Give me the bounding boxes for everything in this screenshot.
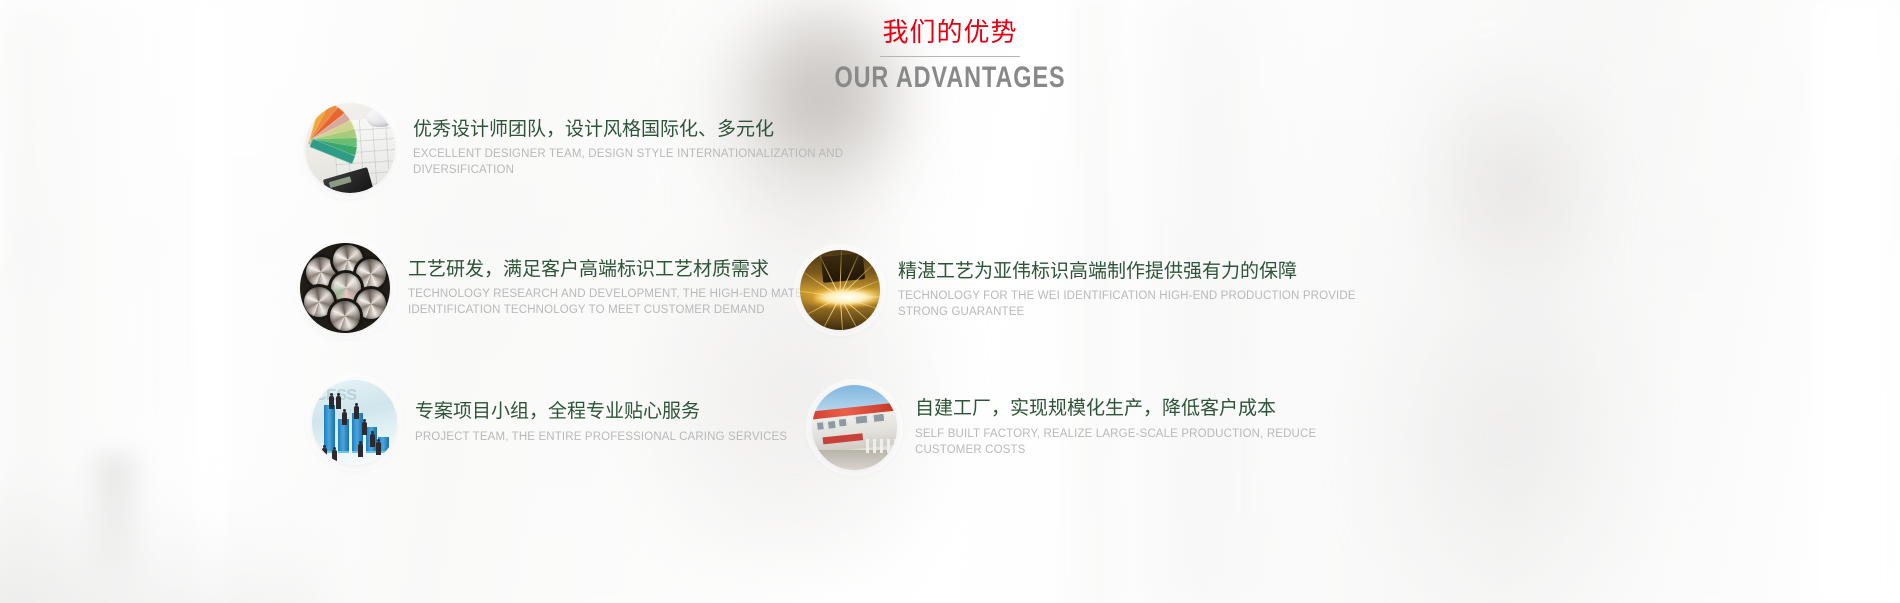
feature-title-cn: 优秀设计师团队，设计风格国际化、多元化 [413, 117, 873, 143]
feature-item-technology-rd[interactable]: 工艺研发，满足客户高端标识工艺材质需求 TECHNOLOGY RESEARCH … [300, 243, 868, 333]
section-title-en: OUR ADVANTAGES [209, 61, 1691, 95]
advantages-section: 我们的优势 OUR ADVANTAGES [0, 0, 1900, 603]
feature-title-cn: 自建工厂，实现规模化生产，降低客户成本 [915, 396, 1375, 422]
feature-subtitle-en: SELF BUILT FACTORY, REALIZE LARGE-SCALE … [915, 427, 1375, 459]
title-divider [880, 56, 1020, 57]
factory-building-icon [812, 385, 897, 470]
feature-item-own-factory[interactable]: 自建工厂，实现规模化生产，降低客户成本 SELF BUILT FACTORY, … [812, 385, 1375, 470]
feature-title-cn: 专案项目小组，全程专业贴心服务 [415, 399, 787, 425]
fence-graphic [866, 439, 895, 453]
feature-subtitle-en: TECHNOLOGY FOR THE WEI IDENTIFICATION HI… [898, 289, 1358, 321]
welding-sparks-icon [800, 250, 880, 330]
weld-flash-graphic [814, 288, 880, 306]
feature-title-cn: 工艺研发，满足客户高端标识工艺材质需求 [408, 257, 868, 283]
feature-text: 精湛工艺为亚伟标识高端制作提供强有力的保障 TECHNOLOGY FOR THE… [880, 259, 1358, 321]
factory-sign-graphic [823, 433, 863, 444]
feature-text: 自建工厂，实现规模化生产，降低客户成本 SELF BUILT FACTORY, … [897, 396, 1375, 458]
color-fan-graphic [309, 113, 371, 169]
color-swatch-blueprint-icon [305, 103, 395, 193]
feature-text: 专案项目小组，全程专业贴心服务 PROJECT TEAM, THE ENTIRE… [397, 399, 787, 446]
feature-subtitle-en: EXCELLENT DESIGNER TEAM, DESIGN STYLE IN… [413, 147, 873, 179]
feature-text: 优秀设计师团队，设计风格国际化、多元化 EXCELLENT DESIGNER T… [395, 117, 873, 179]
feature-item-designer-team[interactable]: 优秀设计师团队，设计风格国际化、多元化 EXCELLENT DESIGNER T… [305, 103, 873, 193]
feature-subtitle-en: TECHNOLOGY RESEARCH AND DEVELOPMENT, THE… [408, 287, 868, 319]
feature-item-project-team[interactable]: CESS 专案项目小组，全程专业贴心服务 PROJECT TEAM, T [312, 380, 787, 465]
business-chart-team-icon: CESS [312, 380, 397, 465]
feature-subtitle-en: PROJECT TEAM, THE ENTIRE PROFESSIONAL CA… [415, 430, 787, 446]
metal-tubes-icon [300, 243, 390, 333]
feature-text: 工艺研发，满足客户高端标识工艺材质需求 TECHNOLOGY RESEARCH … [390, 257, 868, 319]
section-header: 我们的优势 OUR ADVANTAGES [0, 18, 1900, 95]
feature-title-cn: 精湛工艺为亚伟标识高端制作提供强有力的保障 [898, 259, 1358, 285]
section-title-cn: 我们的优势 [0, 18, 1900, 49]
feature-item-craftsmanship[interactable]: 精湛工艺为亚伟标识高端制作提供强有力的保障 TECHNOLOGY FOR THE… [800, 250, 1358, 330]
